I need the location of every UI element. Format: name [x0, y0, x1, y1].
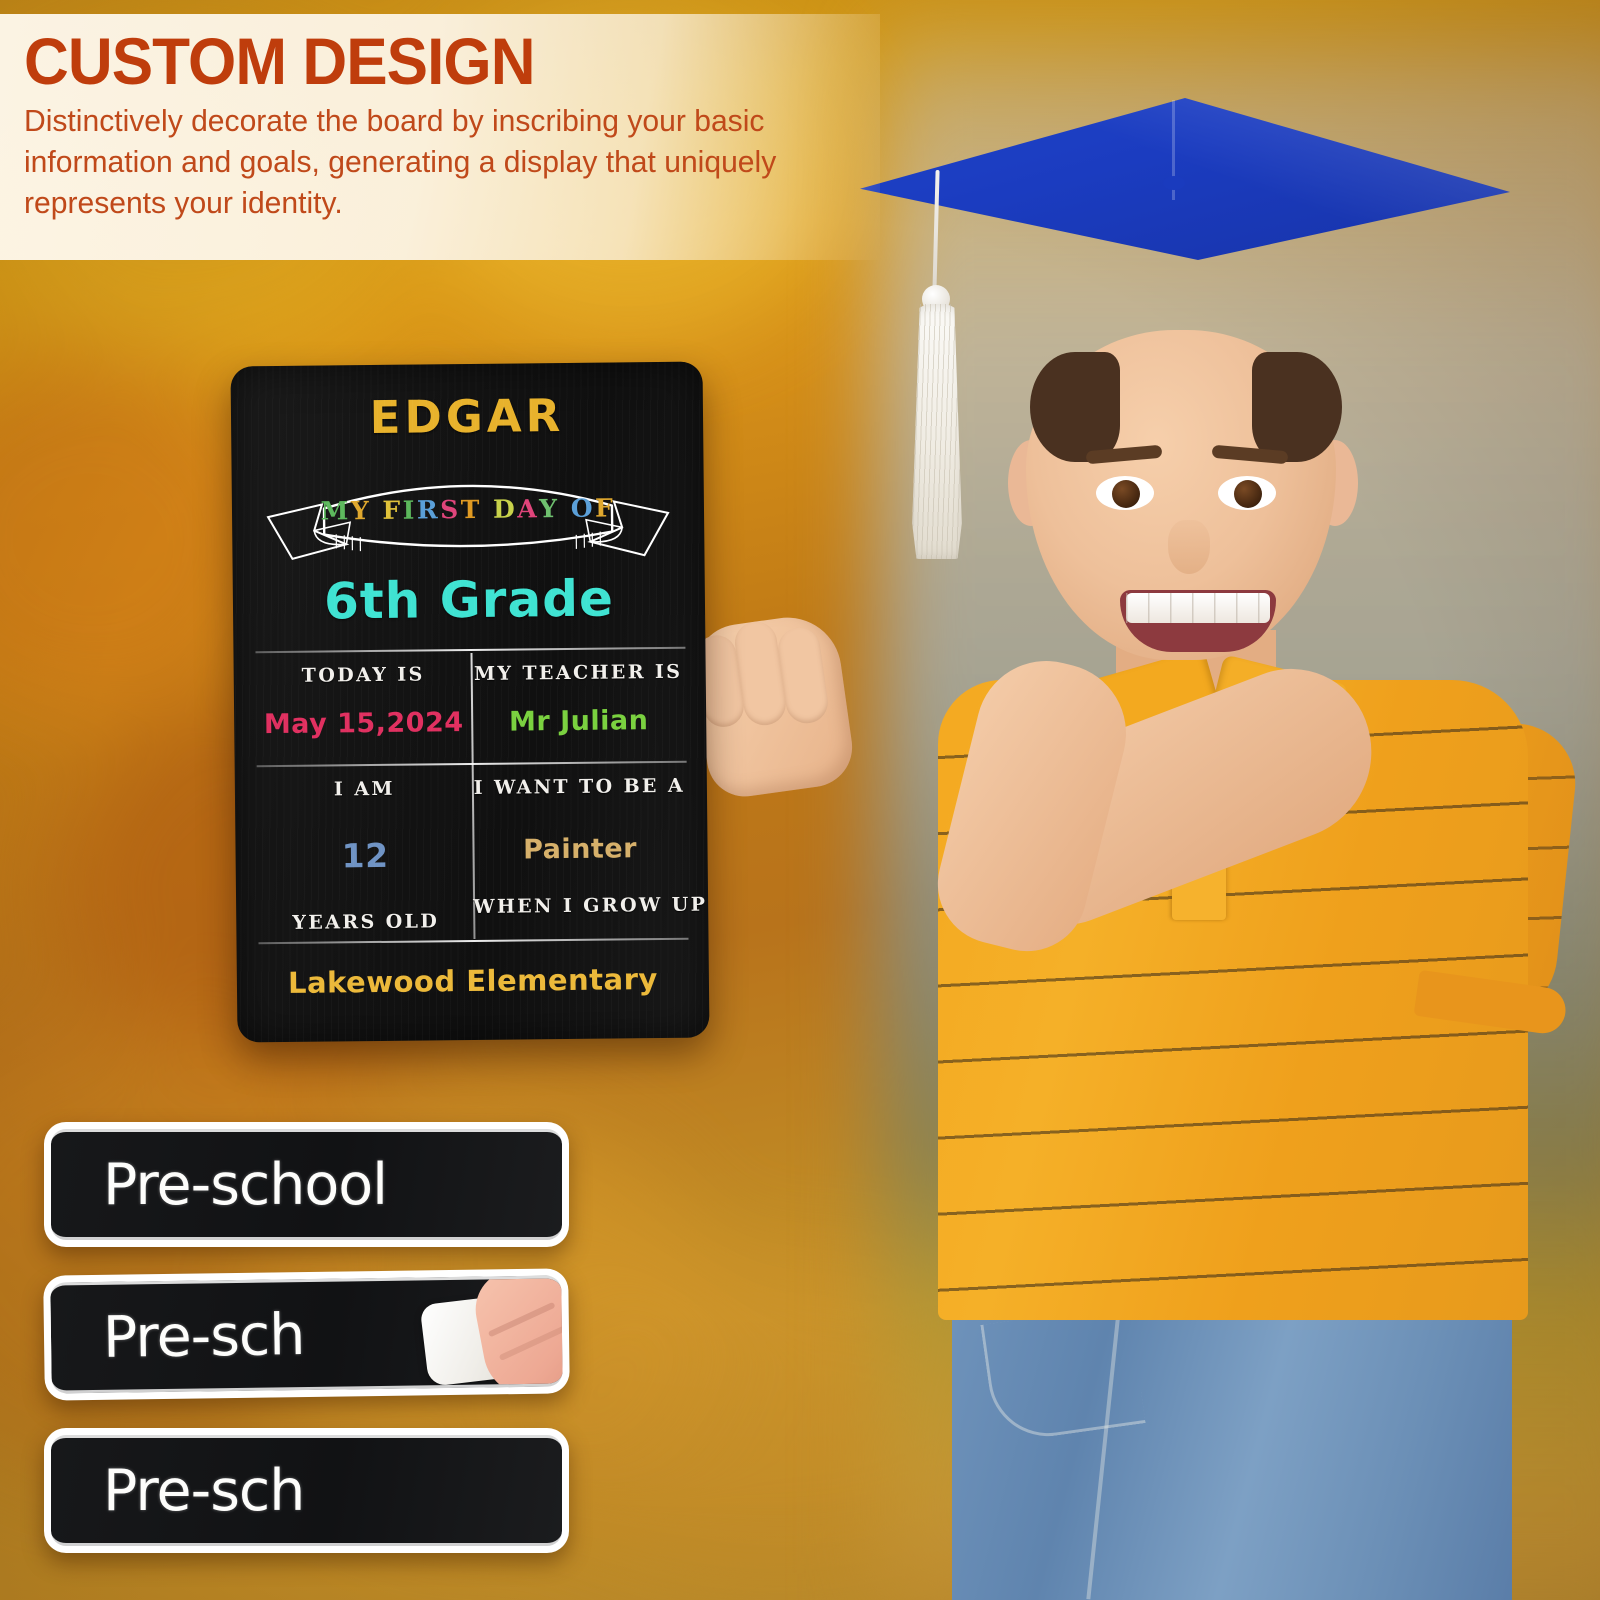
ribbon-letter: A: [517, 494, 539, 523]
ribbon-letter: D: [493, 494, 517, 523]
nose: [1168, 520, 1210, 574]
ribbon-letter: F: [382, 496, 403, 525]
tassel-icon: [910, 304, 964, 559]
jeans-pocket: [980, 1304, 1145, 1444]
smiling-mouth: [1120, 590, 1276, 652]
hair-right: [1252, 352, 1342, 462]
grade-value: 6th Grade: [233, 569, 706, 632]
header-banner: CUSTOM DESIGN Distinctively decorate the…: [0, 14, 880, 260]
cell-value-age: 12: [257, 835, 472, 876]
chalkboard-strip[interactable]: Pre-sch: [44, 1428, 569, 1553]
ribbon-letter: M: [321, 496, 351, 525]
ribbon-letter: S: [440, 495, 461, 524]
eye-left: [1096, 476, 1154, 510]
cell-label: I AM: [257, 777, 472, 801]
graduation-cap-button: [1163, 176, 1185, 190]
hair-left: [1030, 352, 1120, 462]
hand-gripping-board: [689, 611, 858, 802]
ribbon-letter: Y: [351, 496, 372, 525]
ribbon-letter: [371, 496, 383, 525]
student-name: EDGAR: [231, 388, 704, 446]
ribbon-letter: T: [461, 495, 482, 524]
ribbon-letter: [482, 495, 494, 524]
jeans: [952, 1280, 1512, 1600]
cell-label: MY TEACHER IS: [471, 661, 686, 685]
cell-value-date: May 15,2024: [256, 707, 471, 740]
cell-value-career: Painter: [472, 833, 687, 866]
ribbon-letter: I: [403, 496, 418, 525]
ribbon-banner: MY FIRST DAY OF: [249, 457, 686, 567]
cell-i-want-to-be: I WANT TO BE A Painter WHEN I GROW UP: [472, 775, 688, 918]
chalkboard-strip[interactable]: Pre-sch: [43, 1268, 570, 1400]
info-grid: TODAY IS May 15,2024 MY TEACHER IS Mr Ju…: [255, 647, 688, 944]
chalkboard-main[interactable]: EDGAR MY FIRST DAY OF 6th Grade TODAY IS…: [230, 362, 709, 1043]
graduation-cap-highlight: [860, 98, 1510, 260]
cell-i-am: I AM 12 YEARS OLD: [257, 777, 474, 934]
ribbon-letter: [559, 494, 571, 523]
cell-label: I WANT TO BE A: [472, 775, 687, 799]
strip-text: Pre-sch: [51, 1458, 304, 1524]
eye-right: [1218, 476, 1276, 510]
ribbon-letter: O: [571, 494, 596, 523]
cell-sublabel: WHEN I GROW UP: [473, 894, 688, 918]
cell-value-teacher: Mr Julian: [471, 705, 686, 738]
header-subtitle: Distinctively decorate the board by insc…: [24, 101, 810, 224]
hand-with-tissue-erasing: [423, 1275, 563, 1393]
page-title: CUSTOM DESIGN: [24, 30, 829, 93]
chalkboard-strip[interactable]: Pre-school: [44, 1122, 569, 1247]
ribbon-letter: F: [595, 493, 616, 522]
cell-today-is: TODAY IS May 15,2024: [256, 663, 472, 740]
school-name: Lakewood Elementary: [237, 962, 709, 1001]
ribbon-letter: R: [417, 495, 441, 524]
ribbon-text: MY FIRST DAY OF: [250, 493, 686, 527]
strip-text: Pre-school: [51, 1152, 387, 1218]
cell-my-teacher-is: MY TEACHER IS Mr Julian: [471, 661, 687, 738]
ribbon-letter: Y: [539, 494, 560, 523]
cell-label: TODAY IS: [256, 663, 471, 687]
strip-text: Pre-sch: [51, 1302, 305, 1372]
cell-sublabel: YEARS OLD: [258, 910, 473, 934]
